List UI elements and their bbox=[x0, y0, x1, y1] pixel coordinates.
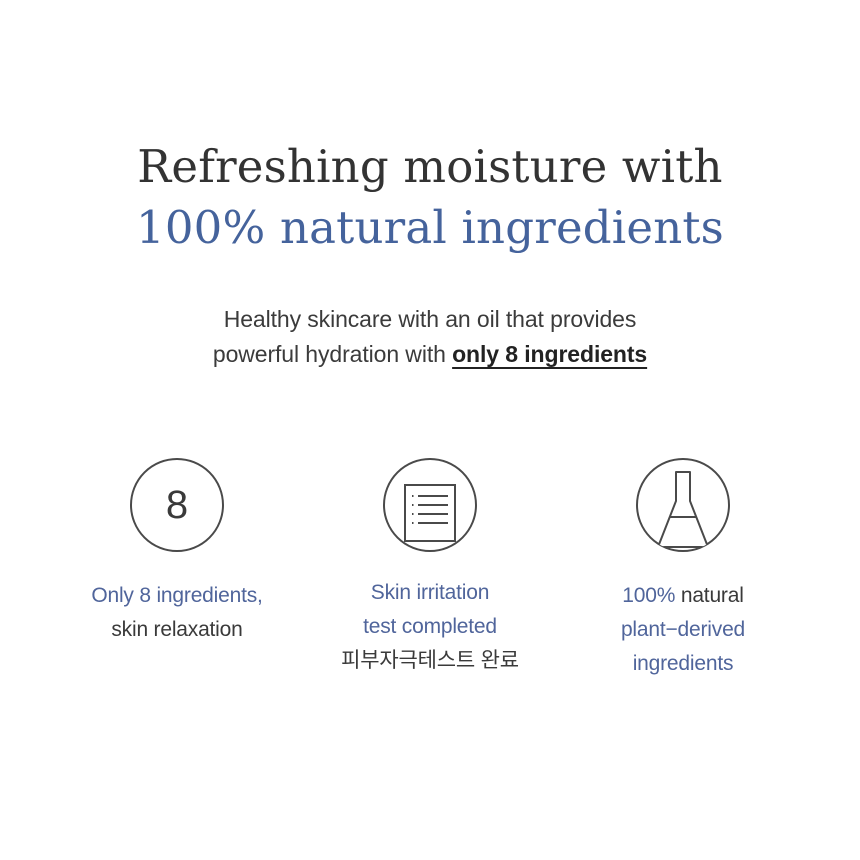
feature-caption-1: Only 8 ingredients, skin relaxation bbox=[91, 579, 262, 647]
feature-caption-2-line-3: 피부자극테스트 완료 bbox=[341, 644, 519, 678]
feature-icon-wrap-3 bbox=[633, 455, 733, 555]
feature-caption-2-line-2: test completed bbox=[341, 610, 519, 644]
feature-item-irritation-test: Skin irritation test completed 피부자극테스트 완… bbox=[304, 455, 557, 678]
subtitle: Healthy skincare with an oil that provid… bbox=[0, 302, 860, 372]
feature-item-natural-ingredients: 100% natural plant−derived ingredients bbox=[557, 455, 810, 681]
feature-caption-1-line-2: skin relaxation bbox=[91, 613, 262, 647]
erlenmeyer-flask-icon bbox=[633, 455, 733, 555]
feature-icon-wrap-1: 8 bbox=[127, 455, 227, 555]
headline-line-1: Refreshing moisture with bbox=[0, 140, 860, 195]
feature-caption-1-line-1: Only 8 ingredients, bbox=[91, 579, 262, 613]
feature-caption-3-line-1-dark: natural bbox=[675, 584, 743, 607]
document-list-icon bbox=[380, 455, 480, 555]
feature-caption-3-line-1-blue: 100% bbox=[622, 584, 675, 607]
feature-caption-2: Skin irritation test completed 피부자극테스트 완… bbox=[341, 576, 519, 678]
subtitle-emphasis: only 8 ingredients bbox=[452, 341, 647, 367]
page-title: Refreshing moisture with 100% natural in… bbox=[0, 140, 860, 256]
subtitle-line-2-prefix: powerful hydration with bbox=[213, 341, 452, 367]
subtitle-line-1: Healthy skincare with an oil that provid… bbox=[0, 302, 860, 337]
feature-caption-3-line-2: plant−derived bbox=[621, 613, 745, 647]
feature-caption-2-line-1: Skin irritation bbox=[341, 576, 519, 610]
headline-line-2: 100% natural ingredients bbox=[0, 201, 860, 256]
promo-banner: Refreshing moisture with 100% natural in… bbox=[0, 0, 860, 860]
feature-caption-3-line-3: ingredients bbox=[621, 647, 745, 681]
feature-item-ingredients: 8 Only 8 ingredients, skin relaxation bbox=[51, 455, 304, 647]
feature-icon-wrap-2 bbox=[380, 455, 480, 555]
circle-number-eight-icon: 8 bbox=[127, 455, 227, 555]
feature-caption-3-line-1: 100% natural bbox=[621, 579, 745, 613]
subtitle-line-2: powerful hydration with only 8 ingredien… bbox=[0, 337, 860, 372]
feature-list: 8 Only 8 ingredients, skin relaxation bbox=[0, 455, 860, 681]
circle-number-eight-value: 8 bbox=[166, 483, 188, 527]
feature-caption-3: 100% natural plant−derived ingredients bbox=[621, 579, 745, 681]
